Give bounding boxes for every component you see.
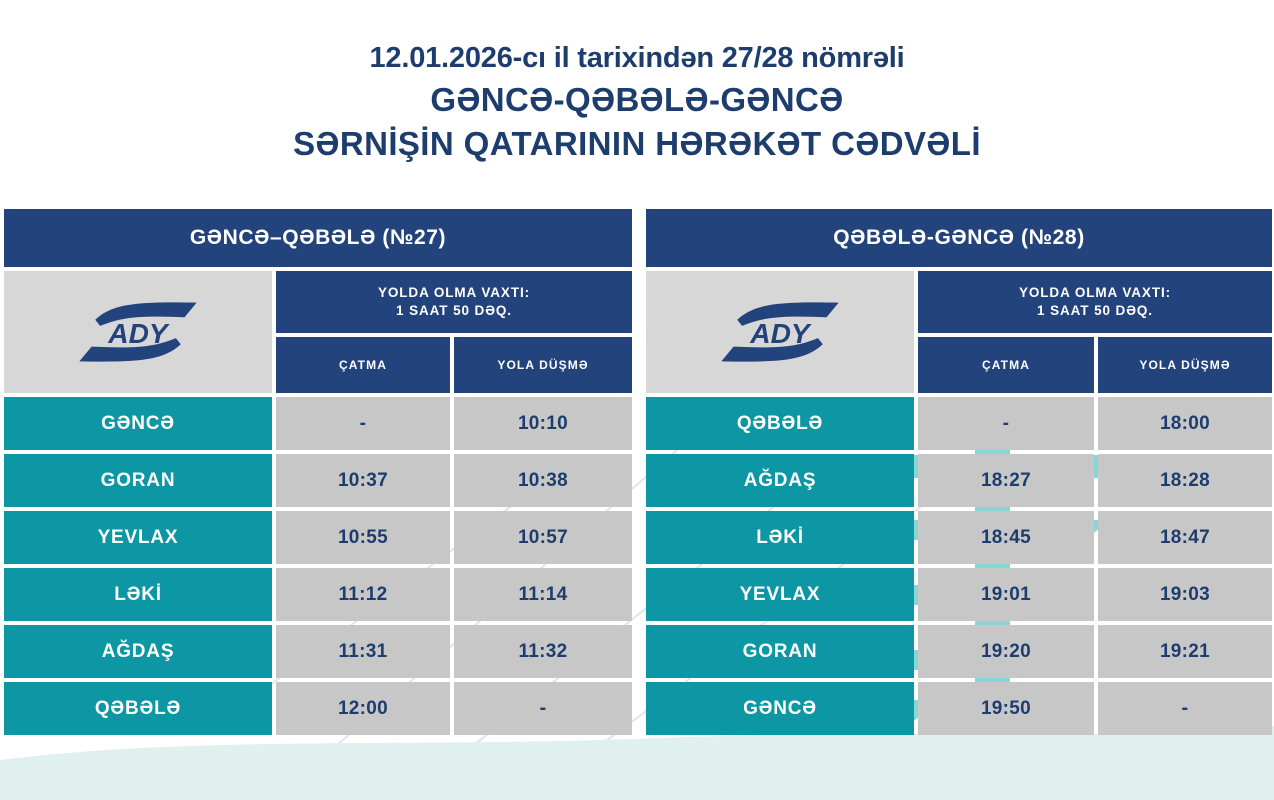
table-row: GORAN 10:37 10:38 <box>4 454 632 507</box>
arrival-time: 19:20 <box>918 625 1094 678</box>
arrival-time: 18:27 <box>918 454 1094 507</box>
subheader-row-28: ÇATMA YOLA DÜŞMƏ <box>918 337 1272 393</box>
departure-time: 18:00 <box>1098 397 1272 450</box>
departure-time: 19:21 <box>1098 625 1272 678</box>
station-name: QƏBƏLƏ <box>646 397 914 450</box>
page-title: 12.01.2026-cı il tarixindən 27/28 nömrəl… <box>0 38 1274 166</box>
arrival-time: 19:50 <box>918 682 1094 735</box>
duration-label-28: YOLDA OLMA VAXTI: <box>1019 284 1171 302</box>
departure-time: 10:38 <box>454 454 632 507</box>
table-body-27: GƏNCƏ - 10:10 GORAN 10:37 10:38 YEVLAX 1… <box>4 397 632 735</box>
duration-label-27: YOLDA OLMA VAXTI: <box>378 284 530 302</box>
ady-logo-cell-28: ADY <box>646 271 914 393</box>
departure-time: 11:14 <box>454 568 632 621</box>
svg-text:ADY: ADY <box>107 318 170 349</box>
station-name: AĞDAŞ <box>646 454 914 507</box>
table-row: GƏNCƏ - 10:10 <box>4 397 632 450</box>
table-row: LƏKİ 11:12 11:14 <box>4 568 632 621</box>
arrival-time: 11:12 <box>276 568 450 621</box>
table-row: LƏKİ 18:45 18:47 <box>646 511 1272 564</box>
station-name: GORAN <box>4 454 272 507</box>
title-line-route: GƏNCƏ-QƏBƏLƏ-GƏNCƏ <box>0 78 1274 122</box>
table-row: QƏBƏLƏ 12:00 - <box>4 682 632 735</box>
departure-time: - <box>454 682 632 735</box>
station-name: LƏKİ <box>646 511 914 564</box>
arrival-time: - <box>918 397 1094 450</box>
table-row: AĞDAŞ 11:31 11:32 <box>4 625 632 678</box>
table-row: YEVLAX 10:55 10:57 <box>4 511 632 564</box>
subheader-row-27: ÇATMA YOLA DÜŞMƏ <box>276 337 632 393</box>
column-header-departure-28: YOLA DÜŞMƏ <box>1098 337 1272 393</box>
table-row: AĞDAŞ 18:27 18:28 <box>646 454 1272 507</box>
arrival-time: 12:00 <box>276 682 450 735</box>
schedule-table-28: QƏBƏLƏ-GƏNCƏ (№28) ADY YOLDA OLMA VAXTI:… <box>646 209 1272 735</box>
arrival-time: 10:55 <box>276 511 450 564</box>
duration-value-27: 1 SAAT 50 DƏQ. <box>396 302 512 320</box>
station-name: YEVLAX <box>646 568 914 621</box>
table-title-27: GƏNCƏ–QƏBƏLƏ (№27) <box>4 209 632 267</box>
title-line-subject: SƏRNİŞİN QATARININ HƏRƏKƏT CƏDVƏLİ <box>0 122 1274 166</box>
arrival-time: 18:45 <box>918 511 1094 564</box>
schedule-table-27: GƏNCƏ–QƏBƏLƏ (№27) ADY YOLDA OLMA VAXTI:… <box>4 209 632 735</box>
departure-time: 10:10 <box>454 397 632 450</box>
title-line-date: 12.01.2026-cı il tarixindən 27/28 nömrəl… <box>0 38 1274 78</box>
duration-cell-27: YOLDA OLMA VAXTI: 1 SAAT 50 DƏQ. <box>276 271 632 333</box>
table-row: GORAN 19:20 19:21 <box>646 625 1272 678</box>
table-title-28: QƏBƏLƏ-GƏNCƏ (№28) <box>646 209 1272 267</box>
table-body-28: QƏBƏLƏ - 18:00 AĞDAŞ 18:27 18:28 LƏKİ 18… <box>646 397 1272 735</box>
arrival-time: 19:01 <box>918 568 1094 621</box>
arrival-time: 10:37 <box>276 454 450 507</box>
arrival-time: - <box>276 397 450 450</box>
table-header-zone-27: ADY YOLDA OLMA VAXTI: 1 SAAT 50 DƏQ. ÇAT… <box>4 271 632 393</box>
table-row: QƏBƏLƏ - 18:00 <box>646 397 1272 450</box>
station-name: LƏKİ <box>4 568 272 621</box>
departure-time: 19:03 <box>1098 568 1272 621</box>
station-name: GƏNCƏ <box>4 397 272 450</box>
departure-time: 18:47 <box>1098 511 1272 564</box>
duration-value-28: 1 SAAT 50 DƏQ. <box>1037 302 1153 320</box>
departure-time: 10:57 <box>454 511 632 564</box>
table-header-zone-28: ADY YOLDA OLMA VAXTI: 1 SAAT 50 DƏQ. ÇAT… <box>646 271 1272 393</box>
duration-cell-28: YOLDA OLMA VAXTI: 1 SAAT 50 DƏQ. <box>918 271 1272 333</box>
ady-logo-cell-27: ADY <box>4 271 272 393</box>
station-name: YEVLAX <box>4 511 272 564</box>
arrival-time: 11:31 <box>276 625 450 678</box>
station-name: QƏBƏLƏ <box>4 682 272 735</box>
column-header-departure-27: YOLA DÜŞMƏ <box>454 337 632 393</box>
column-header-arrival-27: ÇATMA <box>276 337 450 393</box>
station-name: GORAN <box>646 625 914 678</box>
station-name: AĞDAŞ <box>4 625 272 678</box>
ady-logo-icon: ADY <box>76 299 200 365</box>
svg-text:ADY: ADY <box>749 318 812 349</box>
station-name: GƏNCƏ <box>646 682 914 735</box>
table-row: GƏNCƏ 19:50 - <box>646 682 1272 735</box>
departure-time: - <box>1098 682 1272 735</box>
column-header-arrival-28: ÇATMA <box>918 337 1094 393</box>
departure-time: 18:28 <box>1098 454 1272 507</box>
ady-logo-icon: ADY <box>718 299 842 365</box>
departure-time: 11:32 <box>454 625 632 678</box>
table-row: YEVLAX 19:01 19:03 <box>646 568 1272 621</box>
